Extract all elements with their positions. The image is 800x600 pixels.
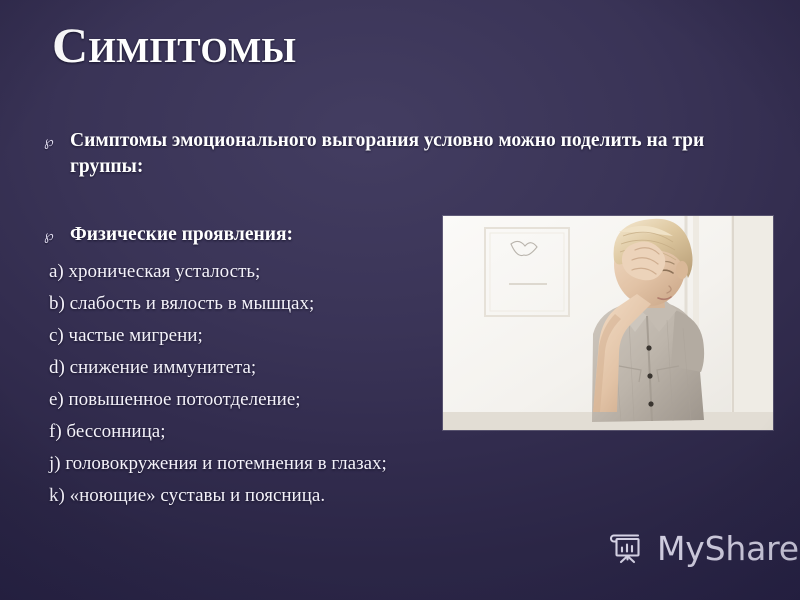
presentation-slide: Симптомы ℘ Симптомы эмоционального выгор… [0,0,800,600]
logo-wordmark: MyShared [657,532,800,565]
bullet-marker-icon: ℘ [44,223,70,249]
presentation-chart-icon [608,528,648,568]
bullet-intro-text: Симптомы эмоционального выгорания условн… [70,128,754,180]
myshared-logo: MyShared [608,528,800,568]
slide-photo [443,216,773,430]
list-item: k) «ноющие» суставы и поясница. [44,480,754,512]
bullet-marker-icon: ℘ [44,129,70,155]
bullet-item-intro: ℘ Симптомы эмоционального выгорания усло… [44,128,754,180]
photo-illustration [443,216,773,430]
page-title: Симптомы [52,19,296,72]
list-item: j) головокружения и потемнения в глазах; [44,448,754,480]
